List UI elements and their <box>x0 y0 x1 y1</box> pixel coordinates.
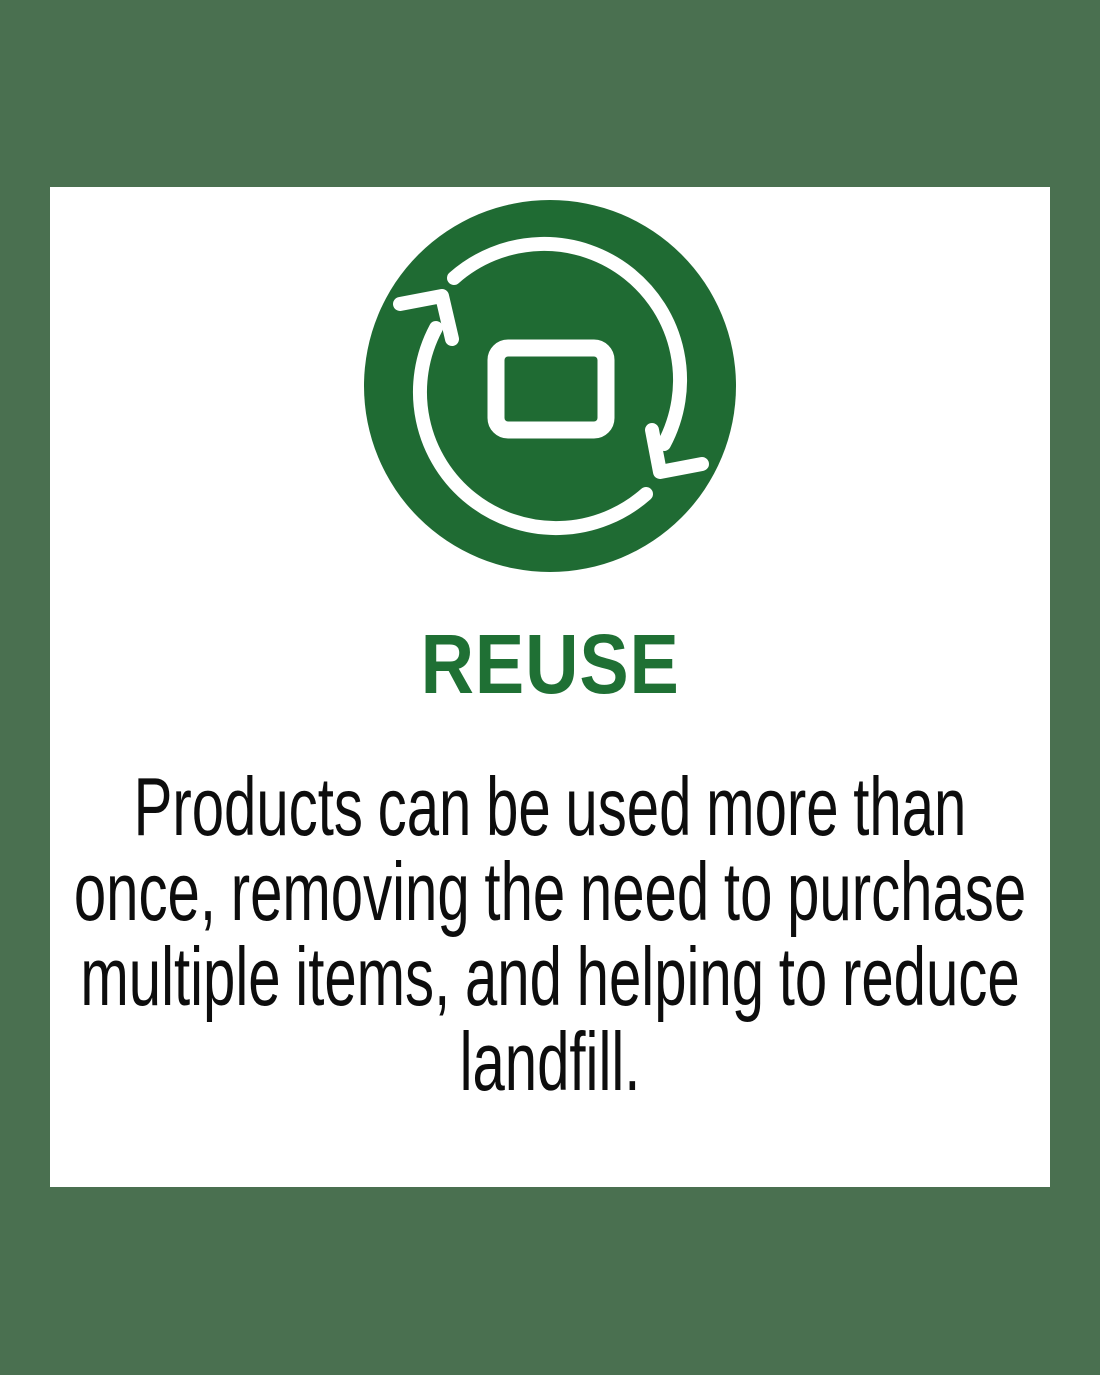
body-description: Products can be used more than once, rem… <box>61 764 1038 1104</box>
reuse-cycle-icon-svg <box>364 200 736 572</box>
page-title: REUSE <box>420 620 679 708</box>
reuse-cycle-icon <box>364 200 736 572</box>
reuse-poster: REUSE Products can be used more than onc… <box>0 0 1100 1375</box>
content-card: REUSE Products can be used more than onc… <box>50 187 1050 1187</box>
